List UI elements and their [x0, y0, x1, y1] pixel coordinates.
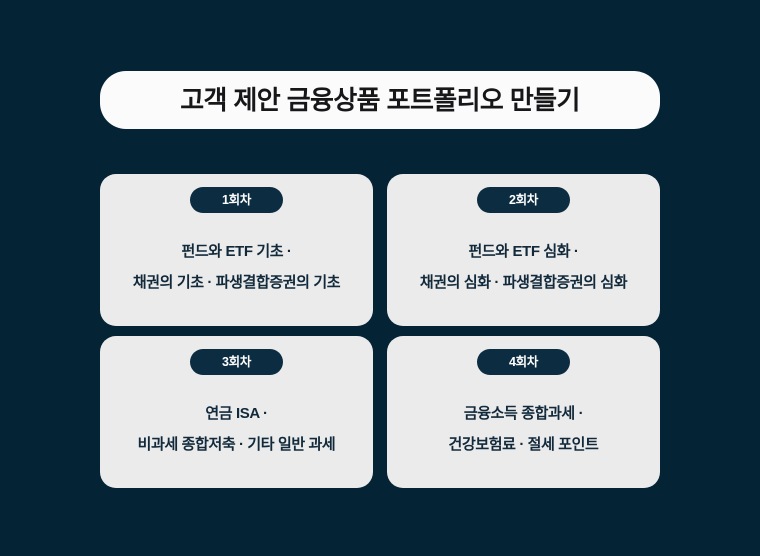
- card-line: 펀드와 ETF 심화 ·: [468, 236, 578, 267]
- header-pill: 고객 제안 금융상품 포트폴리오 만들기: [100, 71, 660, 129]
- card-body: 금융소득 종합과세 · 건강보험료 · 절세 포인트: [387, 375, 660, 488]
- card-line: 펀드와 ETF 기초 ·: [181, 236, 291, 267]
- session-badge-label: 1회차: [222, 194, 251, 207]
- card-body: 펀드와 ETF 심화 · 채권의 심화 · 파생결합증권의 심화: [387, 213, 660, 326]
- curriculum-card[interactable]: 4회차 금융소득 종합과세 · 건강보험료 · 절세 포인트: [387, 336, 660, 488]
- curriculum-card[interactable]: 2회차 펀드와 ETF 심화 · 채권의 심화 · 파생결합증권의 심화: [387, 174, 660, 326]
- curriculum-card[interactable]: 1회차 펀드와 ETF 기초 · 채권의 기초 · 파생결합증권의 기초: [100, 174, 373, 326]
- card-line: 비과세 종합저축 · 기타 일반 과세: [138, 429, 336, 460]
- card-body: 연금 ISA · 비과세 종합저축 · 기타 일반 과세: [100, 375, 373, 488]
- session-badge: 4회차: [477, 349, 570, 375]
- session-badge: 3회차: [190, 349, 283, 375]
- slide-canvas: 고객 제안 금융상품 포트폴리오 만들기 1회차 펀드와 ETF 기초 · 채권…: [0, 0, 760, 556]
- card-line: 연금 ISA ·: [205, 398, 267, 429]
- session-badge: 2회차: [477, 187, 570, 213]
- session-badge-label: 2회차: [509, 194, 538, 207]
- page-title: 고객 제안 금융상품 포트폴리오 만들기: [180, 87, 580, 113]
- card-line: 채권의 기초 · 파생결합증권의 기초: [133, 267, 340, 298]
- card-line: 건강보험료 · 절세 포인트: [449, 429, 599, 460]
- session-badge-label: 4회차: [509, 356, 538, 369]
- session-badge: 1회차: [190, 187, 283, 213]
- card-line: 채권의 심화 · 파생결합증권의 심화: [420, 267, 627, 298]
- card-line: 금융소득 종합과세 ·: [464, 398, 583, 429]
- card-body: 펀드와 ETF 기초 · 채권의 기초 · 파생결합증권의 기초: [100, 213, 373, 326]
- curriculum-card-grid: 1회차 펀드와 ETF 기초 · 채권의 기초 · 파생결합증권의 기초 2회차…: [100, 174, 660, 488]
- session-badge-label: 3회차: [222, 356, 251, 369]
- curriculum-card[interactable]: 3회차 연금 ISA · 비과세 종합저축 · 기타 일반 과세: [100, 336, 373, 488]
